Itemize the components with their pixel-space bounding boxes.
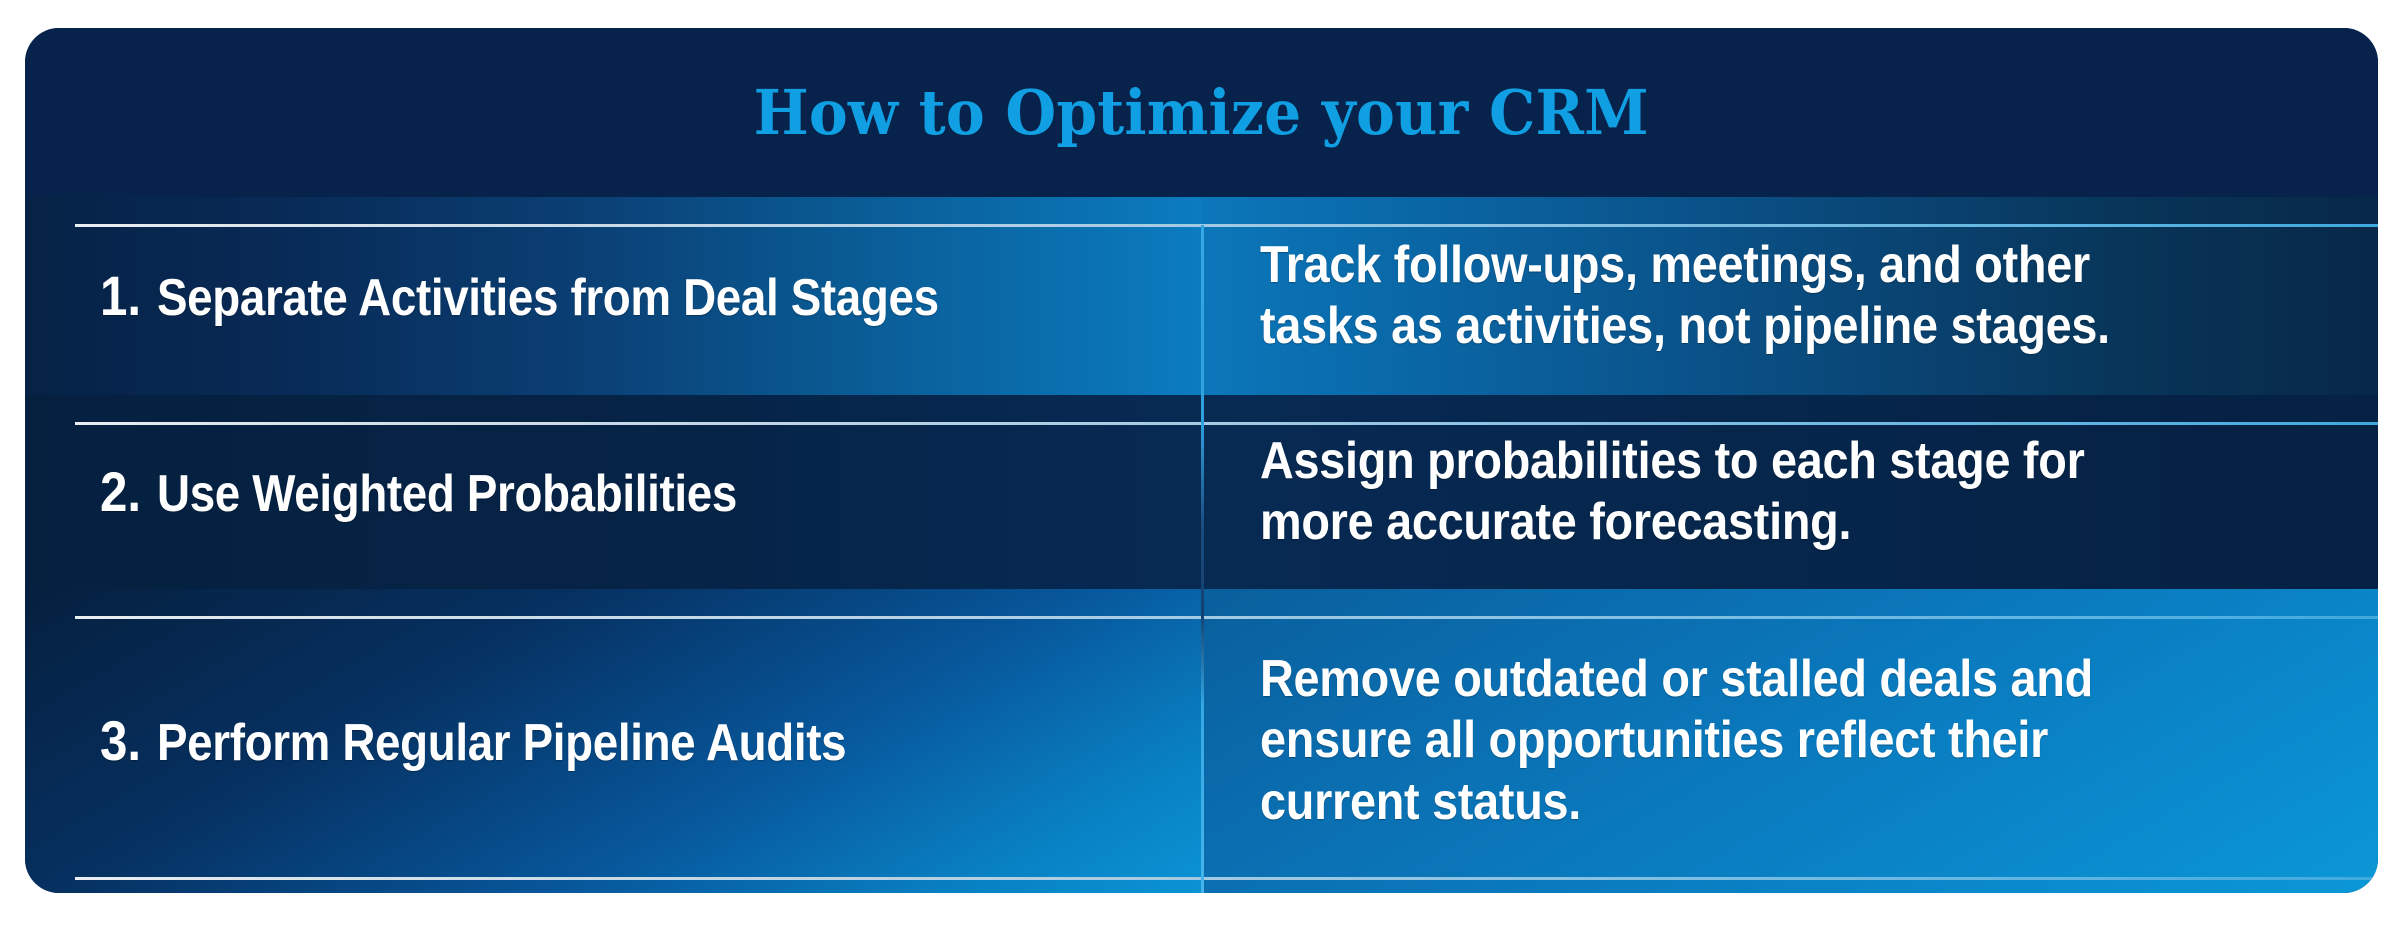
tip-description-1: Track follow-ups, meetings, and other ta… xyxy=(1260,235,2266,358)
tip-number-3: 3. xyxy=(100,709,145,772)
tip-description-2: Assign probabilities to each stage for m… xyxy=(1260,431,2266,554)
tip-heading-1: 1. Separate Activities from Deal Stages xyxy=(100,266,965,326)
tip-number-1: 1. xyxy=(100,264,145,327)
column-divider xyxy=(1201,225,1204,893)
tip-heading-text-2: Use Weighted Probabilities xyxy=(157,465,737,523)
tip-number-2: 2. xyxy=(100,460,145,523)
row-divider xyxy=(75,616,2378,619)
row-divider xyxy=(75,224,2378,227)
tip-heading-cell: 3. Perform Regular Pipeline Audits xyxy=(25,589,1201,893)
tip-description-3: Remove outdated or stalled deals and ens… xyxy=(1260,649,2266,833)
tip-heading-3: 3. Perform Regular Pipeline Audits xyxy=(100,711,873,771)
title-band: How to Optimize your CRM xyxy=(25,28,2378,197)
row-divider xyxy=(75,877,2378,880)
page-title: How to Optimize your CRM xyxy=(754,82,1649,144)
tip-description-cell: Remove outdated or stalled deals and ens… xyxy=(1201,589,2378,893)
crm-tips-card: How to Optimize your CRM 1. Separate Act… xyxy=(25,28,2378,893)
tip-heading-text-1: Separate Activities from Deal Stages xyxy=(157,269,939,327)
tip-heading-text-3: Perform Regular Pipeline Audits xyxy=(157,714,846,772)
tip-heading-2: 2. Use Weighted Probabilities xyxy=(100,462,763,522)
row-divider xyxy=(75,422,2378,425)
